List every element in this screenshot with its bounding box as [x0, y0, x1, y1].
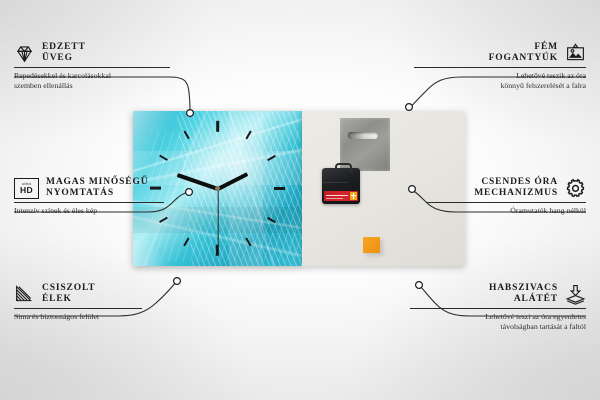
callout-habszivacs-alatet: HABSZIVACS ALÁTÉT Lehetővé teszi az óra … [410, 283, 586, 331]
callout-fem-fogantyuk: FÉM FOGANTYÚK Lehetővé teszik az óra kön… [414, 42, 586, 90]
callout-divider [14, 202, 164, 203]
callout-header: FÉM FOGANTYÚK [414, 42, 586, 64]
callout-title: CSENDES ÓRA MECHANIZMUS [474, 177, 558, 199]
callout-description-line2: könnyű felszerelését a falra [414, 81, 586, 91]
callout-header: EDZETT ÜVEG [14, 42, 179, 64]
clock-tick [274, 187, 285, 190]
mechanism-hanging-loop [335, 163, 352, 173]
clock-center-cap [215, 186, 220, 191]
callout-description-line1: Lehetővé teszi az óra egyenletes [410, 312, 586, 322]
callout-csiszolt-elek: CSISZOLT ÉLEK Sima és biztonságos felüle… [14, 283, 164, 322]
callout-divider [14, 308, 142, 309]
hanger-keyhole-slot [348, 132, 378, 139]
connector-endpoint-3 [174, 278, 181, 285]
clock-tick [216, 121, 219, 132]
callout-magas-minosegu-nyomtatas: ultra HD MAGAS MINŐSÉGŰ NYOMTATÁS Intenz… [14, 177, 184, 216]
callout-csendes-ora-mechanizmus: CSENDES ÓRA MECHANIZMUS Óramutatók hang … [426, 177, 586, 216]
infographic-canvas: EDZETT ÜVEG Repedésekkel és karcolásokka… [0, 0, 600, 400]
gear-icon [565, 178, 586, 199]
callout-description-line1: Óramutatók hang nélkül [426, 206, 586, 216]
ultra-hd-icon-main: HD [20, 186, 33, 195]
quartz-mechanism [322, 168, 360, 204]
callout-divider [414, 67, 586, 68]
diamond-icon [14, 43, 35, 64]
callout-header: HABSZIVACS ALÁTÉT [410, 283, 586, 305]
picture-hanger-icon [565, 43, 586, 64]
label-text-bar [326, 195, 348, 196]
glass-sheen-band [229, 111, 263, 266]
polished-edge-icon [14, 284, 35, 305]
callout-description-line1: Lehetővé teszik az óra [414, 71, 586, 81]
callout-title: HABSZIVACS ALÁTÉT [489, 283, 558, 305]
callout-title: MAGAS MINŐSÉGŰ NYOMTATÁS [46, 177, 148, 199]
mechanism-label [324, 191, 358, 201]
callout-header: CSISZOLT ÉLEK [14, 283, 164, 305]
callout-edzett-uveg: EDZETT ÜVEG Repedésekkel és karcolásokka… [14, 42, 179, 90]
callout-divider [410, 308, 586, 309]
label-text-bar [326, 198, 343, 199]
callout-description-line1: Repedésekkel és karcolásokkal [14, 71, 179, 81]
ultra-hd-icon: ultra HD [14, 178, 39, 199]
callout-header: ultra HD MAGAS MINŐSÉGŰ NYOMTATÁS [14, 177, 184, 199]
battery-plus-marker [350, 192, 357, 200]
callout-description-line1: Intenzív színek és éles kép [14, 206, 184, 216]
callout-title: CSISZOLT ÉLEK [42, 283, 95, 305]
callout-description-line2: szemben ellenállás [14, 81, 179, 91]
callout-description-line1: Sima és biztonságos felület [14, 312, 164, 322]
callout-header: CSENDES ÓRA MECHANIZMUS [426, 177, 586, 199]
callout-divider [14, 67, 170, 68]
foam-pad-icon [565, 284, 586, 305]
mechanism-seam [324, 182, 348, 183]
callout-title: FÉM FOGANTYÚK [489, 42, 558, 64]
callout-description-line2: távolságban tartását a faltól [410, 322, 586, 332]
foam-spacer-pad [363, 237, 380, 253]
callout-divider [426, 202, 586, 203]
connector-endpoint-4 [406, 104, 413, 111]
clock-second-hand [217, 189, 218, 247]
callout-title: EDZETT ÜVEG [42, 42, 86, 64]
